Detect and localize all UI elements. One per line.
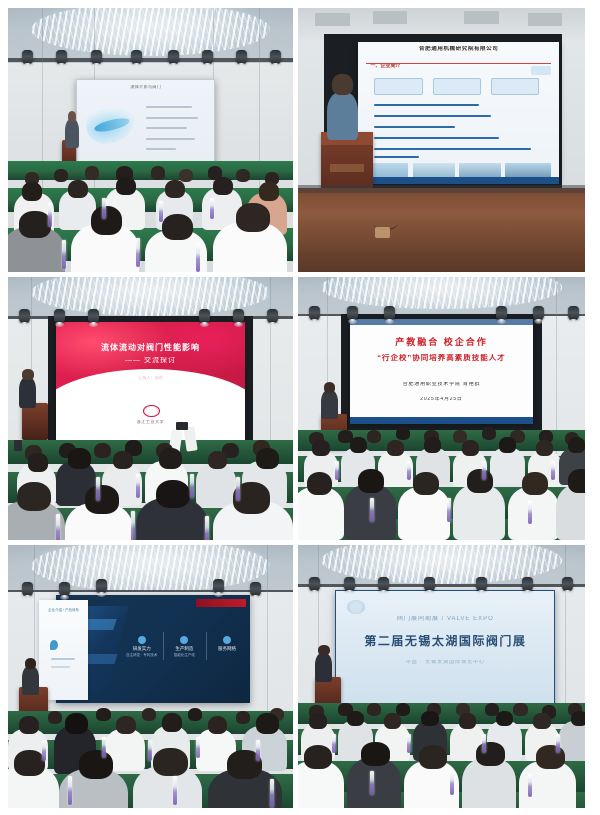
photo-bottom-left: 研发实力 自主研发 · 专利技术 生产制造 智能化生产线 服务网络 <box>8 545 293 808</box>
presentation-screen: 合肥通用机械研究院有限公司 一、企业简介 <box>358 42 559 179</box>
screen-header: 合肥通用机械研究院有限公司 <box>358 46 559 52</box>
screen-badge <box>374 78 422 95</box>
photo-collage: 流体介质与阀门 <box>0 0 600 815</box>
screen-badge <box>491 78 539 95</box>
photo-middle-left: 流体流动对阀门性能影响 —— 交流探讨 汇报人：张明 浙江工业大学 <box>8 277 293 540</box>
photo-top-right: 合肥通用机械研究院有限公司 一、企业简介 <box>298 8 585 272</box>
photo-middle-right: 产教融合 校企合作 “行企校”协同培养高素质技能人才 合肥通用职业技术学院 肖艳… <box>298 277 585 540</box>
screen-section-title: 一、企业简介 <box>370 64 400 70</box>
photo-bottom-right: 阀门展同期展 / VALVE EXPO 第二届无锡太湖国际阀门展 中国 · 无锡… <box>298 545 585 808</box>
speaker <box>327 92 359 140</box>
photo-top-left: 流体介质与阀门 <box>8 8 293 272</box>
screen-badge <box>433 78 481 95</box>
company-logo-icon <box>531 66 551 76</box>
